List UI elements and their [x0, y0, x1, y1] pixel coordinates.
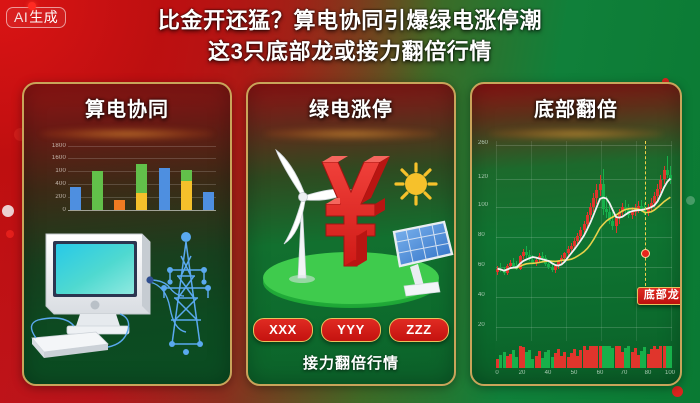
y-tick: 60: [478, 262, 485, 268]
headline: 比金开还猛？算电协同引爆绿电涨停潮 这3只底部龙或接力翻倍行情: [0, 8, 700, 65]
candle-body: [669, 175, 672, 180]
bar-segment-yellow: [136, 193, 147, 210]
bar-segment-orange: [114, 200, 125, 210]
pylon-insulator-node: [161, 232, 211, 355]
stock-pill[interactable]: ZZZ: [389, 318, 449, 342]
green-energy-illustration: [248, 136, 454, 316]
candlestick-plot: [496, 141, 672, 341]
card-2-caption: 接力翻倍行情: [248, 352, 454, 373]
bar-segment-blue: [70, 187, 81, 211]
bar-segment-green: [136, 164, 147, 193]
y-tick: 400: [55, 181, 66, 187]
bar-segment-blue: [203, 192, 214, 210]
card-dibu-fanbei[interactable]: 底部翻倍 260 120 100 80 60 40 20: [470, 82, 682, 386]
bar: [114, 200, 125, 210]
card-suandian-xietong[interactable]: 算电协同 1800 1600 100 400 200 0: [22, 82, 232, 386]
title-glow: [40, 128, 213, 140]
x-tick: 60: [597, 370, 604, 376]
x-tick: 0: [495, 370, 498, 376]
power-pylon-icon: [164, 242, 208, 344]
y-tick: 100: [55, 168, 66, 174]
card-lvdian-zhangting[interactable]: 绿电涨停: [246, 82, 456, 386]
keyboard-icon: [32, 332, 108, 358]
candle: [669, 141, 672, 341]
bottom-dragon-label: 底部龙: [637, 287, 682, 305]
green-energy-svg: [248, 136, 454, 316]
y-tick: 120: [478, 174, 488, 180]
card-1-title: 算电协同: [24, 93, 230, 122]
bar-segment-blue: [159, 168, 170, 210]
yuan-currency-icon: [322, 156, 390, 266]
ai-badge-label: 生成: [29, 10, 58, 24]
bar-segment-green: [181, 170, 192, 181]
cards-row: 算电协同 1800 1600 100 400 200 0: [0, 82, 700, 394]
y-tick: 260: [478, 140, 488, 146]
y-tick: 0: [62, 207, 66, 213]
candle-wick: [606, 196, 607, 218]
bar-segment-yellow: [181, 181, 192, 210]
bar: [136, 164, 147, 210]
recording-dot-icon: [28, 2, 36, 10]
poster-root: AI 生成 比金开还猛？算电协同引爆绿电涨停潮 这3只底部龙或接力翻倍行情 算电…: [0, 0, 700, 403]
card-2-title: 绿电涨停: [248, 93, 454, 122]
headline-line-1: 比金开还猛？算电协同引爆绿电涨停潮: [0, 8, 700, 34]
y-tick: 40: [478, 292, 485, 298]
ai-badge-prefix: AI: [14, 10, 28, 24]
candlestick-x-axis: 0 20 40 50 60 70 80 100: [496, 370, 672, 380]
x-tick: 80: [645, 370, 652, 376]
ai-generated-badge: AI 生成: [6, 7, 66, 28]
x-tick: 100: [665, 370, 675, 376]
x-tick: 50: [571, 370, 578, 376]
bar-chart: 1800 1600 100 400 200 0: [36, 144, 218, 224]
axis-line: [68, 210, 216, 211]
y-tick: 200: [55, 194, 66, 200]
bar: [203, 192, 214, 210]
card-3-title: 底部翻倍: [472, 93, 680, 122]
stock-pill[interactable]: XXX: [253, 318, 313, 342]
candlestick-chart: 260 120 100 80 60 40 20: [476, 139, 676, 379]
stock-pill[interactable]: YYY: [321, 318, 381, 342]
volume-bar: [669, 346, 672, 368]
y-tick: 1800: [52, 143, 66, 149]
bar-series: [70, 144, 214, 210]
volume-bars: [496, 344, 672, 368]
y-tick: 100: [478, 202, 488, 208]
x-tick: 20: [519, 370, 526, 376]
x-tick: 40: [545, 370, 552, 376]
bar: [181, 170, 192, 210]
candle-wick: [500, 263, 501, 272]
annotation-dashed-line: [645, 141, 646, 286]
y-tick: 20: [478, 322, 485, 328]
port-node: [146, 276, 153, 283]
x-tick: 70: [621, 370, 628, 376]
computer-pylon-svg: [24, 226, 230, 381]
y-tick: 1600: [52, 155, 66, 161]
bar: [159, 168, 170, 210]
bar: [70, 187, 81, 211]
sun-icon: [396, 164, 436, 204]
bar: [92, 171, 103, 210]
bar-chart-plot: [68, 144, 216, 210]
computing-power-illustration: [24, 226, 230, 381]
bar-segment-green: [92, 171, 103, 210]
y-tick: 80: [478, 232, 485, 238]
stock-code-pills: XXXYYYZZZ: [248, 318, 454, 342]
bar-chart-y-axis: 1800 1600 100 400 200 0: [36, 144, 66, 210]
headline-line-2: 这3只底部龙或接力翻倍行情: [0, 39, 700, 65]
